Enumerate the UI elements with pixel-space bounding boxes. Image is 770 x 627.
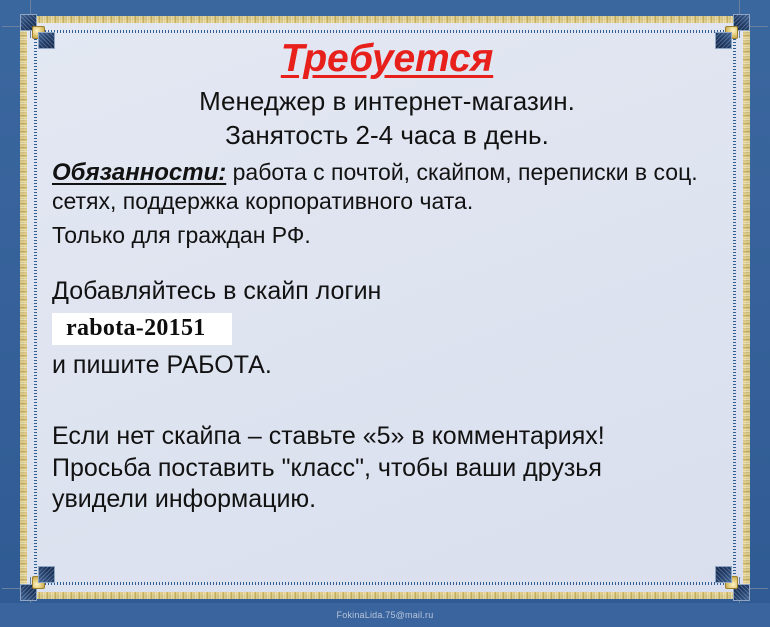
watermark-email: FokinaLida.75@mail.ru: [337, 610, 434, 620]
lead-line-1: Менеджер в интернет-магазин.: [52, 85, 722, 118]
ornate-frame: Требуется Менеджер в интернет-магазин. З…: [14, 10, 756, 605]
gold-rule-top-icon: [20, 16, 750, 23]
poster-image: Требуется Менеджер в интернет-магазин. З…: [0, 0, 770, 627]
outro-paragraph: Если нет скайпа – ставьте «5» в коммента…: [52, 421, 722, 516]
gold-rule-bottom-icon: [20, 592, 750, 599]
gold-rule-right-icon: [743, 16, 750, 599]
gold-rule-left-icon: [20, 16, 27, 599]
cta-line: Добавляйтесь в скайп логин: [52, 275, 722, 308]
lead-line-2: Занятость 2-4 часа в день.: [52, 119, 722, 152]
blue-rule-top-icon: [36, 30, 734, 33]
blue-rule-bottom-icon: [36, 582, 734, 585]
skype-login-value: rabota-20151: [52, 313, 232, 345]
citizenship-line: Только для граждан РФ.: [52, 221, 722, 249]
cta-after-line: и пишите РАБОТА.: [52, 349, 722, 382]
page-title: Требуется: [52, 38, 722, 79]
blue-rule-right-icon: [733, 32, 736, 583]
duties-paragraph: Обязанности: работа с почтой, скайпом, п…: [52, 158, 722, 215]
lead-paragraph: Менеджер в интернет-магазин. Занятость 2…: [52, 85, 722, 152]
poster-content: Требуется Менеджер в интернет-магазин. З…: [52, 34, 722, 575]
outro-line-2: Просьба поставить "класс", чтобы ваши др…: [52, 453, 722, 485]
skype-login-wrap: rabota-20151: [52, 313, 722, 345]
watermark-bar: FokinaLida.75@mail.ru: [0, 603, 770, 627]
outro-line-1: Если нет скайпа – ставьте «5» в коммента…: [52, 421, 722, 453]
duties-label: Обязанности:: [52, 159, 226, 186]
blue-rule-left-icon: [34, 32, 37, 583]
outro-line-3: увидели информацию.: [52, 484, 722, 516]
